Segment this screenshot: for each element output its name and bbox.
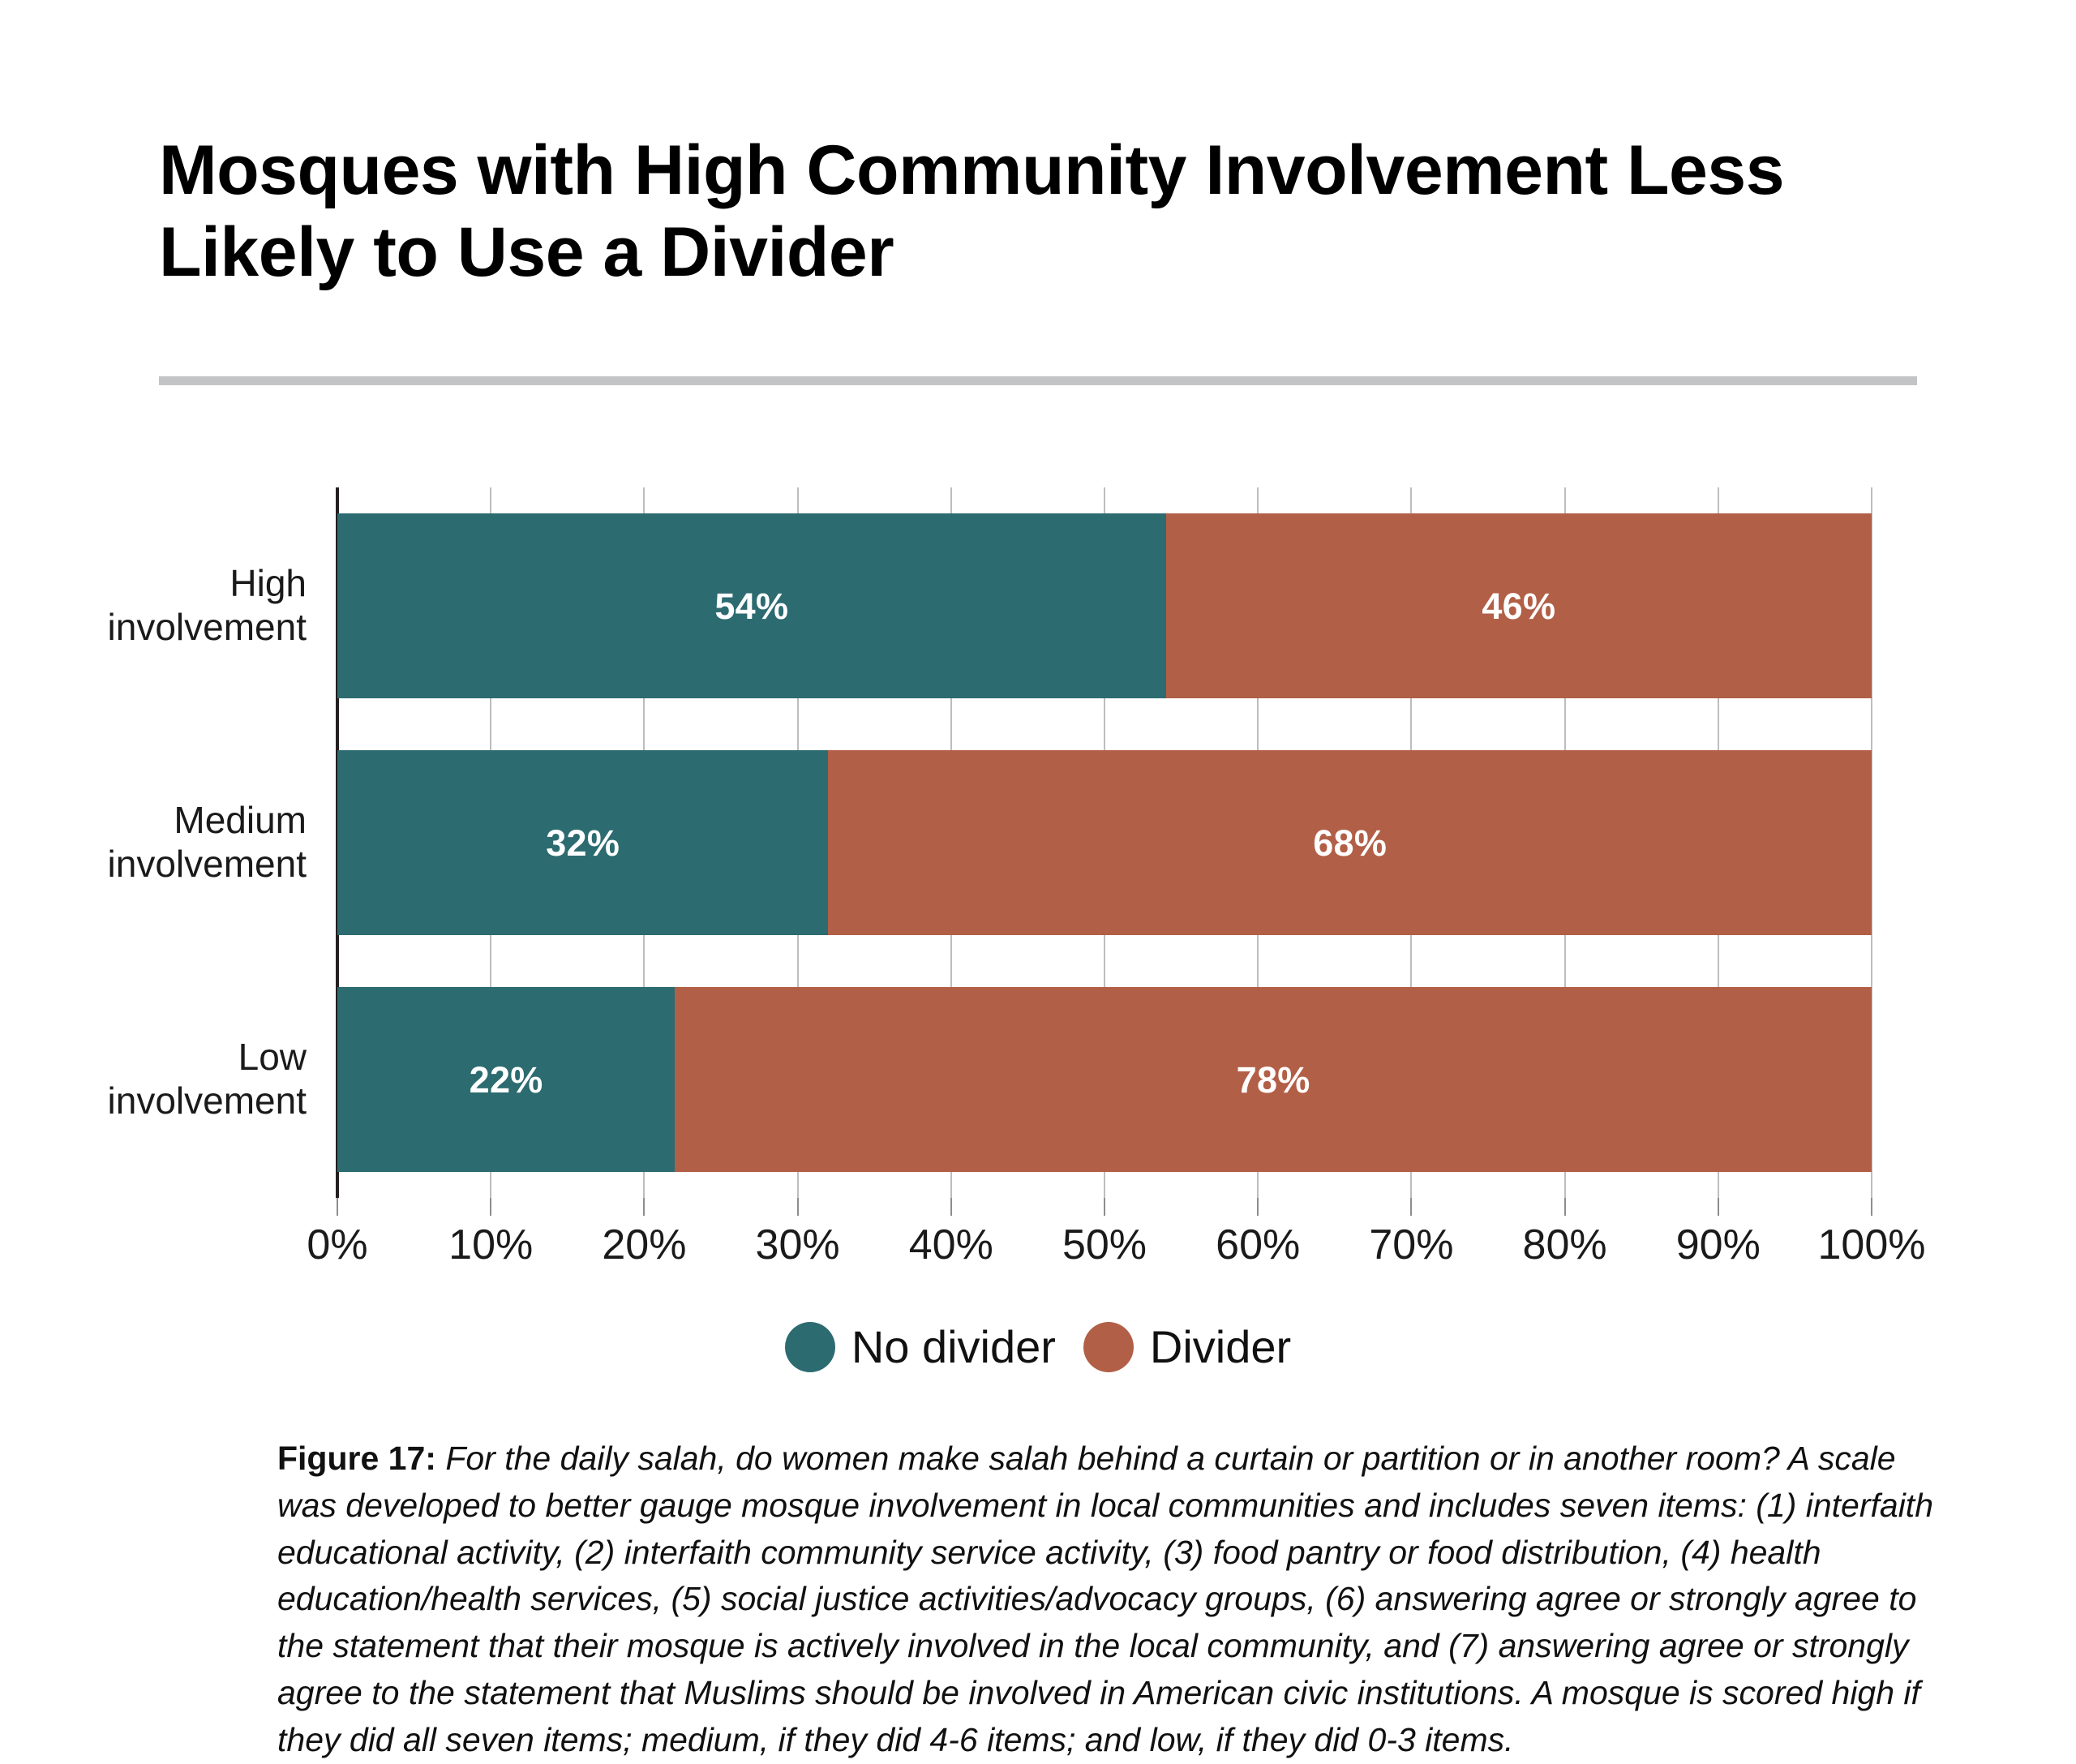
- bar-value-label: 22%: [470, 1062, 543, 1098]
- legend-label: Divider: [1150, 1320, 1291, 1373]
- plot-area: 54%46%32%68%22%78%: [337, 487, 1872, 1198]
- figure-caption: Figure 17: For the daily salah, do women…: [277, 1436, 1949, 1764]
- bar-segment-no-divider[interactable]: 22%: [337, 987, 675, 1172]
- caption-text: For the daily salah, do women make salah…: [277, 1440, 1933, 1758]
- legend-label: No divider: [851, 1320, 1056, 1373]
- x-axis-tick: [1871, 1198, 1872, 1216]
- x-axis-tick-label: 90%: [1676, 1221, 1761, 1269]
- legend-item-divider[interactable]: Divider: [1083, 1320, 1291, 1373]
- x-axis-tick: [1718, 1198, 1719, 1216]
- x-axis-tick: [950, 1198, 952, 1216]
- x-axis-tick-label: 100%: [1818, 1221, 1926, 1269]
- x-axis-tick: [643, 1198, 645, 1216]
- x-axis-tick: [1104, 1198, 1105, 1216]
- x-axis-tick-label: 30%: [756, 1221, 840, 1269]
- figure-number: Figure 17:: [277, 1440, 436, 1477]
- x-axis-tick: [337, 1198, 338, 1216]
- x-axis-tick: [1564, 1198, 1566, 1216]
- legend-item-no-divider[interactable]: No divider: [785, 1320, 1056, 1373]
- bar-segment-no-divider[interactable]: 54%: [337, 513, 1166, 698]
- y-axis-category-label: Low involvement: [0, 1036, 307, 1123]
- y-axis-category-label: Medium involvement: [0, 799, 307, 886]
- x-axis-tick: [797, 1198, 799, 1216]
- bar-segment-no-divider[interactable]: 32%: [337, 750, 828, 935]
- legend-swatch-circle-icon: [785, 1322, 835, 1372]
- x-axis-tick-label: 40%: [909, 1221, 993, 1269]
- legend-swatch-circle-icon: [1083, 1322, 1134, 1372]
- bar-value-label: 32%: [546, 825, 620, 861]
- bar-segment-divider[interactable]: 78%: [675, 987, 1872, 1172]
- x-axis-tick-label: 10%: [448, 1221, 533, 1269]
- chart-legend: No divider Divider: [0, 1320, 2076, 1373]
- y-axis-category-label: High involvement: [0, 562, 307, 650]
- bar-segment-divider[interactable]: 46%: [1166, 513, 1872, 698]
- bar-value-label: 46%: [1482, 588, 1555, 624]
- x-axis-tick-label: 20%: [602, 1221, 686, 1269]
- x-axis-tick-label: 50%: [1062, 1221, 1147, 1269]
- bar-row: 54%46%: [337, 513, 1872, 698]
- x-axis-tick: [490, 1198, 491, 1216]
- bar-row: 22%78%: [337, 987, 1872, 1172]
- x-axis-tick: [1257, 1198, 1259, 1216]
- x-axis-tick: [1410, 1198, 1412, 1216]
- x-axis-tick-label: 80%: [1523, 1221, 1607, 1269]
- x-axis-tick-label: 0%: [307, 1221, 367, 1269]
- bar-row: 32%68%: [337, 750, 1872, 935]
- bar-value-label: 68%: [1313, 825, 1387, 861]
- x-axis-tick-label: 70%: [1369, 1221, 1453, 1269]
- bar-value-label: 78%: [1237, 1062, 1310, 1098]
- bar-value-label: 54%: [714, 588, 788, 624]
- bar-segment-divider[interactable]: 68%: [828, 750, 1872, 935]
- x-axis-tick-label: 60%: [1216, 1221, 1300, 1269]
